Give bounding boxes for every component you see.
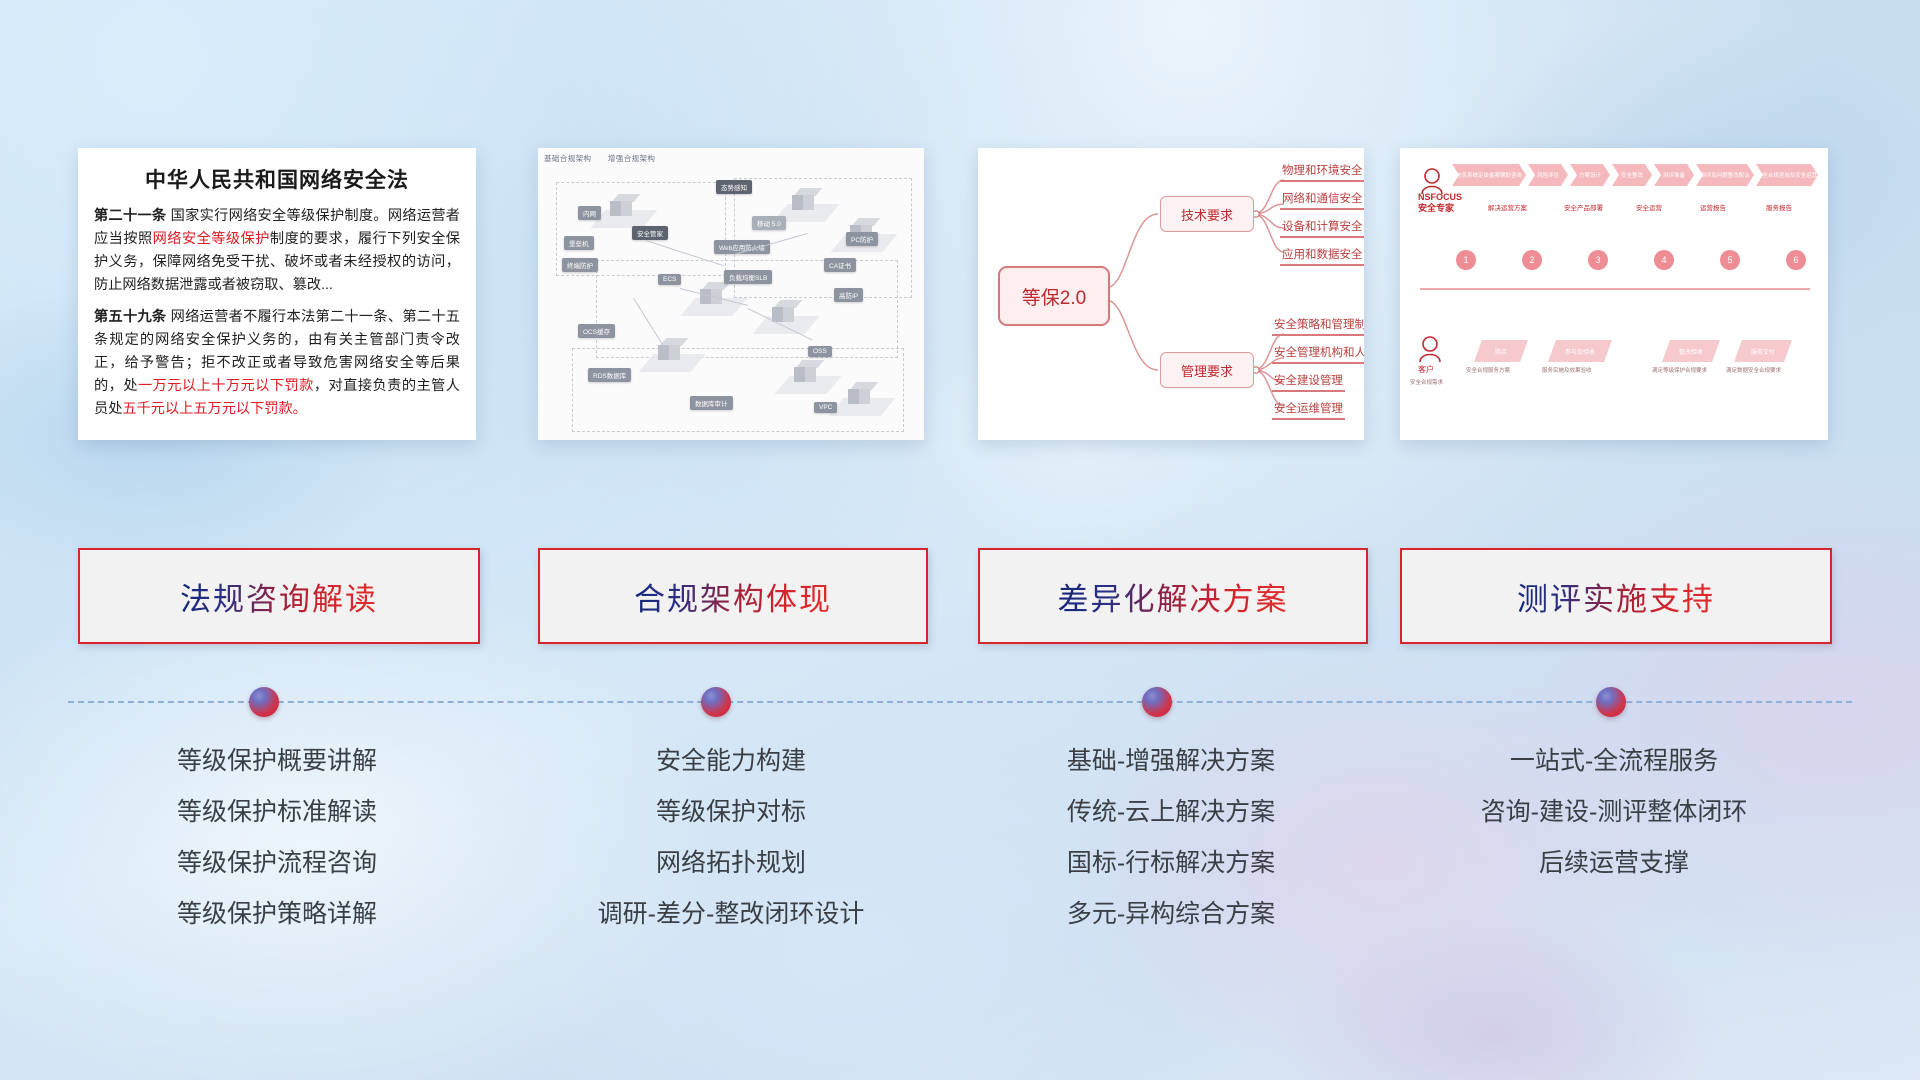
- mindmap-branch-tech: 技术要求: [1160, 196, 1254, 232]
- architecture-topbar-label-0: 基础合规架构: [544, 154, 591, 163]
- nsfocus-step-4: 5: [1720, 250, 1740, 270]
- card-law-text: 中华人民共和国网络安全法 第二十一条 国家实行网络安全等级保护制度。网络运营者应…: [78, 148, 476, 440]
- nsfocus-phase-tag-0: 解决运营方案: [1488, 202, 1527, 212]
- pillar-titles-row: 法规咨询解读 合规架构体现 差异化解决方案 测评实施支持: [0, 548, 1920, 644]
- pillar-title-box-1[interactable]: 合规架构体现: [538, 548, 928, 644]
- law-title: 中华人民共和国网络安全法: [94, 164, 460, 194]
- list-item: 等级保护流程咨询: [78, 838, 476, 889]
- pillar-list-1: 安全能力构建 等级保护对标 网络拓扑规划 调研-差分-整改闭环设计: [538, 736, 924, 940]
- list-item: 国标-行标解决方案: [978, 838, 1364, 889]
- mindmap-leaf-tech-1: 网络和通信安全: [1280, 190, 1364, 210]
- card-nsfocus-timeline: 信息系统定级备案辅助咨询 风险评估 方案设计 安全整改 测评准备 测评及问题整改…: [1400, 148, 1828, 440]
- slide-content: 中华人民共和国网络安全法 第二十一条 国家实行网络安全等级保护制度。网络运营者应…: [0, 0, 1920, 1080]
- pillar-list-0: 等级保护概要讲解 等级保护标准解读 等级保护流程咨询 等级保护策略详解: [78, 736, 476, 940]
- article-59-highlight-1: 一万元以上十万元以下罚款: [138, 378, 314, 394]
- nsfocus-bottom-tag-0: 购买: [1474, 340, 1528, 362]
- card-architecture-diagram: 基础合规架构 增强合规架构: [538, 148, 924, 440]
- nsfocus-chevron-5: 测评及问题整改配合: [1696, 164, 1754, 186]
- nsfocus-logo-line2: 安全专家: [1418, 203, 1462, 214]
- nsfocus-rail: [1420, 288, 1810, 290]
- timeline-dot-3[interactable]: [1596, 687, 1626, 717]
- law-article-21: 第二十一条 国家实行网络安全等级保护制度。网络运营者应当按照网络安全等级保护制度…: [94, 205, 460, 297]
- mindmap-root: 等保2.0: [998, 266, 1110, 326]
- list-item: 后续运营支撑: [1400, 838, 1828, 889]
- arch-node-移动5: 移动 5.0: [752, 216, 786, 230]
- list-item: 等级保护标准解读: [78, 787, 476, 838]
- pillar-lists-row: 等级保护概要讲解 等级保护标准解读 等级保护流程咨询 等级保护策略详解 安全能力…: [0, 736, 1920, 996]
- mindmap-leaf-tech-0: 物理和环境安全: [1280, 162, 1364, 182]
- article-59-label: 第五十九条: [94, 309, 166, 325]
- nsfocus-chevron-0: 信息系统定级备案辅助咨询: [1452, 164, 1526, 186]
- mindmap-leaf-mgmt-2: 安全建设管理: [1272, 372, 1345, 392]
- timeline-dashed-line: [68, 701, 1852, 703]
- nsfocus-person-icon: [1400, 148, 1828, 440]
- timeline-dot-2[interactable]: [1142, 687, 1172, 717]
- arch-node-oss: OSS: [808, 346, 832, 357]
- nsfocus-phase-tag-2: 安全运营: [1636, 202, 1662, 212]
- nsfocus-bottom-sub-1: 服务实施及效果验收: [1542, 366, 1592, 374]
- architecture-canvas: 基础合规架构 增强合规架构: [538, 148, 924, 440]
- arch-node-ocs缓存: OCS缓存: [578, 324, 615, 338]
- pillar-title-box-3[interactable]: 测评实施支持: [1400, 548, 1832, 644]
- mindmap-leaf-tech-3: 应用和数据安全: [1280, 246, 1364, 266]
- arch-node-堡垒机: 堡垒机: [564, 236, 594, 250]
- nsfocus-phase-tag-4: 服务报告: [1766, 202, 1792, 212]
- timeline-dot-0[interactable]: [249, 687, 279, 717]
- list-item: 一站式-全流程服务: [1400, 736, 1828, 787]
- pillar-title-label-0: 法规咨询解读: [180, 574, 378, 619]
- pillar-list-3: 一站式-全流程服务 咨询-建设-测评整体闭环 后续运营支撑: [1400, 736, 1828, 889]
- list-item: 安全能力构建: [538, 736, 924, 787]
- arch-cube-2: [792, 188, 814, 210]
- nsfocus-phase-tag-3: 运营报告: [1700, 202, 1726, 212]
- pillar-list-2: 基础-增强解决方案 传统-云上解决方案 国标-行标解决方案 多元-异构综合方案: [978, 736, 1364, 940]
- nsfocus-badge-0-label: 整改验收: [1679, 347, 1703, 356]
- arch-node-终端防护: 终端防护: [562, 258, 598, 272]
- nsfocus-step-1: 2: [1522, 250, 1542, 270]
- arch-node-ca证书: CA证书: [824, 258, 856, 272]
- law-article-59: 第五十九条 网络运营者不履行本法第二十一条、第二十五条规定的网络安全保护义务的，…: [94, 306, 460, 421]
- architecture-topbar-label-1: 增强合规架构: [608, 154, 655, 163]
- list-item: 网络拓扑规划: [538, 838, 924, 889]
- nsfocus-bottom-tag-1-label: 参与及验收: [1565, 347, 1595, 356]
- arch-node-rds数据库: RDS数据库: [588, 368, 631, 382]
- pillar-title-label-1: 合规架构体现: [634, 574, 832, 619]
- nsfocus-badge-sub-1: 满足数据安全合规要求: [1726, 366, 1781, 374]
- mindmap-branch-mgmt: 管理要求: [1160, 352, 1254, 388]
- timeline: [0, 672, 1920, 732]
- article-59-highlight-2: 五千元以上五万元以下罚款。: [122, 401, 306, 417]
- law-document: 中华人民共和国网络安全法 第二十一条 国家实行网络安全等级保护制度。网络运营者应…: [78, 148, 476, 440]
- architecture-topbar: 基础合规架构 增强合规架构: [544, 153, 669, 164]
- nsfocus-bottom-sub-0: 安全合规服务方案: [1466, 366, 1510, 374]
- nsfocus-step-0: 1: [1456, 250, 1476, 270]
- nsfocus-phase-tag-1: 安全产品部署: [1564, 202, 1603, 212]
- nsfocus-badge-1: 服务交付: [1734, 340, 1792, 362]
- mindmap-canvas: 等保2.0 技术要求 管理要求 物理和环境安全 网络和通信安全 设备和计算安全 …: [978, 148, 1364, 440]
- arch-cube-8: [848, 382, 870, 404]
- nsfocus-badge-1-label: 服务交付: [1751, 347, 1775, 356]
- card-mindmap: 等保2.0 技术要求 管理要求 物理和环境安全 网络和通信安全 设备和计算安全 …: [978, 148, 1364, 440]
- list-item: 多元-异构综合方案: [978, 889, 1364, 940]
- arch-node-态势感知: 态势感知: [716, 180, 752, 194]
- pillar-title-label-3: 测评实施支持: [1517, 574, 1715, 619]
- article-21-label: 第二十一条: [94, 208, 166, 224]
- arch-node-安全管家: 安全管家: [632, 226, 668, 240]
- nsfocus-badge-0: 整改验收: [1662, 340, 1720, 362]
- mindmap-leaf-mgmt-0: 安全策略和管理制度: [1272, 316, 1364, 336]
- nsfocus-canvas: 信息系统定级备案辅助咨询 风险评估 方案设计 安全整改 测评准备 测评及问题整改…: [1400, 148, 1828, 440]
- list-item: 等级保护概要讲解: [78, 736, 476, 787]
- mindmap-leaf-mgmt-3: 安全运维管理: [1272, 400, 1345, 420]
- arch-node-ecs: ECS: [658, 274, 681, 285]
- nsfocus-badge-sub-0: 满足等级保护合规要求: [1652, 366, 1707, 374]
- mindmap-leaf-mgmt-1: 安全管理机构和人员: [1272, 344, 1364, 364]
- arch-node-pc防护: PC防护: [846, 232, 878, 246]
- arch-node-vpc: VPC: [814, 402, 837, 413]
- pillar-title-box-0[interactable]: 法规咨询解读: [78, 548, 480, 644]
- list-item: 调研-差分-整改闭环设计: [538, 889, 924, 940]
- preview-cards-row: 中华人民共和国网络安全法 第二十一条 国家实行网络安全等级保护制度。网络运营者应…: [0, 148, 1920, 443]
- article-21-highlight: 网络安全等级保护: [153, 231, 270, 247]
- pillar-title-label-2: 差异化解决方案: [1058, 574, 1289, 619]
- pillar-title-box-2[interactable]: 差异化解决方案: [978, 548, 1368, 644]
- mindmap-leaf-tech-2: 设备和计算安全: [1280, 218, 1364, 238]
- arch-node-负载均衡slb: 负载均衡SLB: [724, 270, 772, 284]
- list-item: 等级保护对标: [538, 787, 924, 838]
- nsfocus-chevron-6: 数据安全合规咨询及安全运营服务: [1756, 164, 1818, 186]
- nsfocus-customer-label: 客户: [1418, 364, 1434, 375]
- arch-node-内网: 内网: [578, 206, 601, 220]
- nsfocus-logo: NSFOCUS 安全专家: [1418, 192, 1462, 215]
- list-item: 基础-增强解决方案: [978, 736, 1364, 787]
- nsfocus-logo-line1: NSFOCUS: [1418, 192, 1462, 203]
- timeline-dot-1[interactable]: [701, 687, 731, 717]
- list-item: 等级保护策略详解: [78, 889, 476, 940]
- arch-cube-7: [794, 360, 816, 382]
- arch-node-数据库审计: 数据库审计: [690, 396, 733, 410]
- nsfocus-customer-sub: 安全合规需求: [1410, 378, 1443, 386]
- list-item: 传统-云上解决方案: [978, 787, 1364, 838]
- nsfocus-step-5: 6: [1786, 250, 1806, 270]
- list-item: 咨询-建设-测评整体闭环: [1400, 787, 1828, 838]
- nsfocus-bottom-tag-1: 参与及验收: [1548, 340, 1612, 362]
- nsfocus-step-2: 3: [1588, 250, 1608, 270]
- arch-node-高防ip: 高防IP: [834, 288, 863, 302]
- arch-cube-5: [772, 300, 794, 322]
- nsfocus-step-3: 4: [1654, 250, 1674, 270]
- arch-cube-1: [610, 194, 632, 216]
- nsfocus-bottom-tag-0-label: 购买: [1495, 347, 1507, 356]
